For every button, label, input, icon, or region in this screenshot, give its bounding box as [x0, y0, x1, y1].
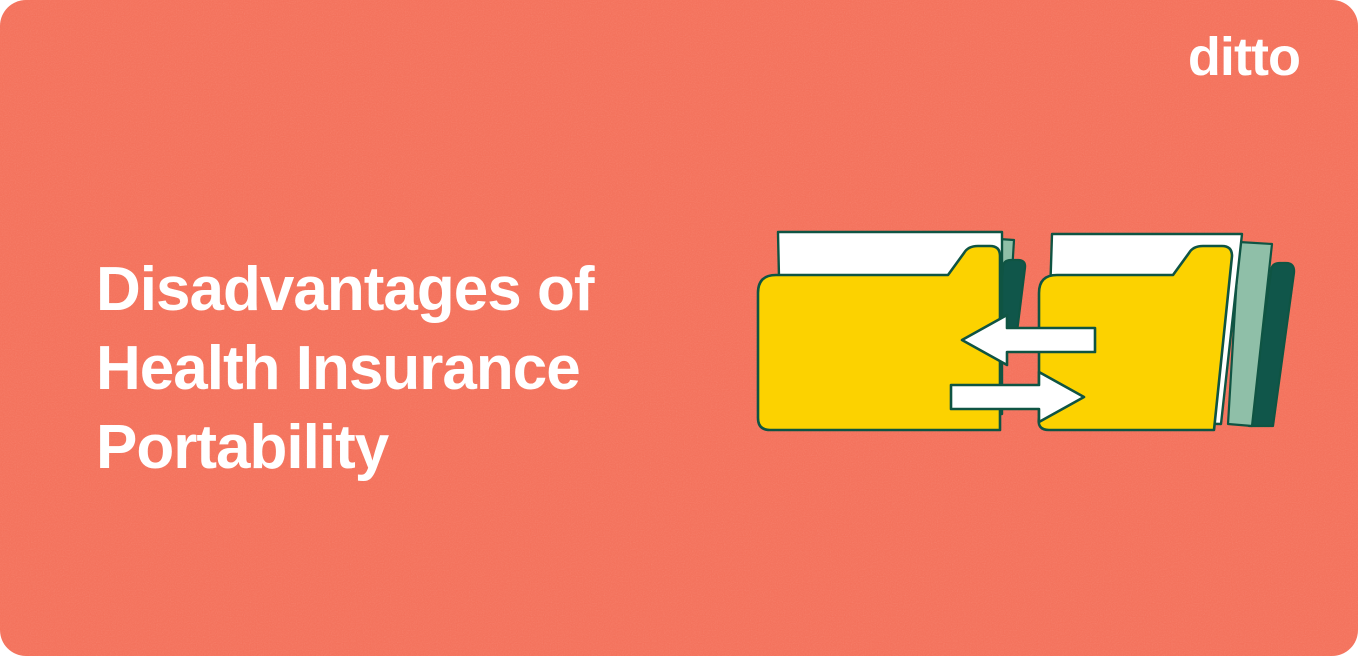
promo-banner: ditto Disadvantages of Health Insurance … — [0, 0, 1358, 656]
folder-exchange-illustration — [752, 218, 1322, 453]
brand-wordmark: ditto — [1188, 30, 1300, 84]
page-title: Disadvantages of Health Insurance Portab… — [96, 250, 736, 488]
